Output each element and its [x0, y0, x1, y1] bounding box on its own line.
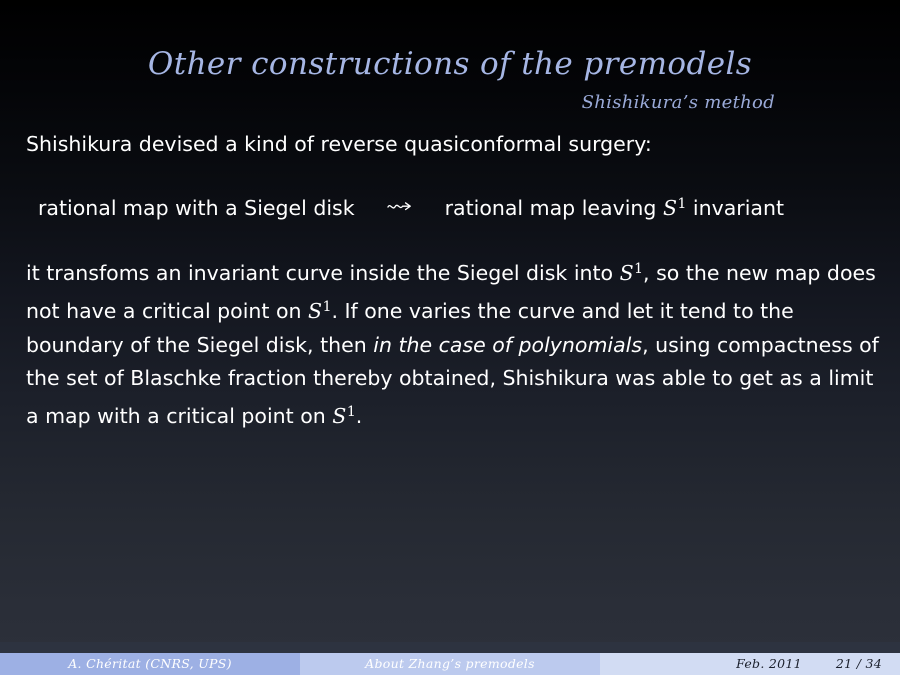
emphasized-phrase: in the case of polynomials: [373, 333, 642, 357]
display-equation-line: rational map with a Siegel disk rational…: [26, 188, 880, 226]
math-symbol-s1-second: S1: [308, 299, 331, 323]
page-title: Other constructions of the premodels: [0, 44, 900, 84]
display-left-text: rational map with a Siegel disk: [38, 196, 355, 220]
footer-author: A. Chéritat (CNRS, UPS): [0, 653, 300, 675]
main-paragraph: it transfoms an invariant curve inside t…: [26, 253, 880, 433]
presentation-slide: Other constructions of the premodels Shi…: [0, 0, 900, 675]
math-symbol-s1-third: S1: [332, 404, 355, 428]
intro-paragraph: Shishikura devised a kind of reverse qua…: [26, 128, 880, 162]
main-segment-1: it transfoms an invariant curve inside t…: [26, 261, 613, 285]
footer-separator-bar: [0, 642, 900, 653]
math-symbol-s1-first: S1: [620, 261, 643, 285]
main-segment-5: .: [356, 404, 363, 428]
squiggly-arrow-icon: [387, 190, 415, 224]
slide-header: Other constructions of the premodels Shi…: [0, 44, 900, 84]
footer-meta: Feb. 2011 21 / 34: [600, 653, 900, 675]
math-symbol-s1-display: S1: [663, 196, 686, 220]
display-right-text: rational map leaving: [445, 196, 657, 220]
footer-date: Feb. 2011: [736, 653, 802, 675]
footer-page-number: 21 / 34: [836, 653, 882, 675]
slide-body: Shishikura devised a kind of reverse qua…: [26, 128, 880, 433]
display-right-tail: invariant: [693, 196, 784, 220]
footer-short-title: About Zhang’s premodels: [300, 653, 600, 675]
slide-footer: A. Chéritat (CNRS, UPS) About Zhang’s pr…: [0, 653, 900, 675]
page-subtitle: Shishikura’s method: [582, 91, 775, 115]
